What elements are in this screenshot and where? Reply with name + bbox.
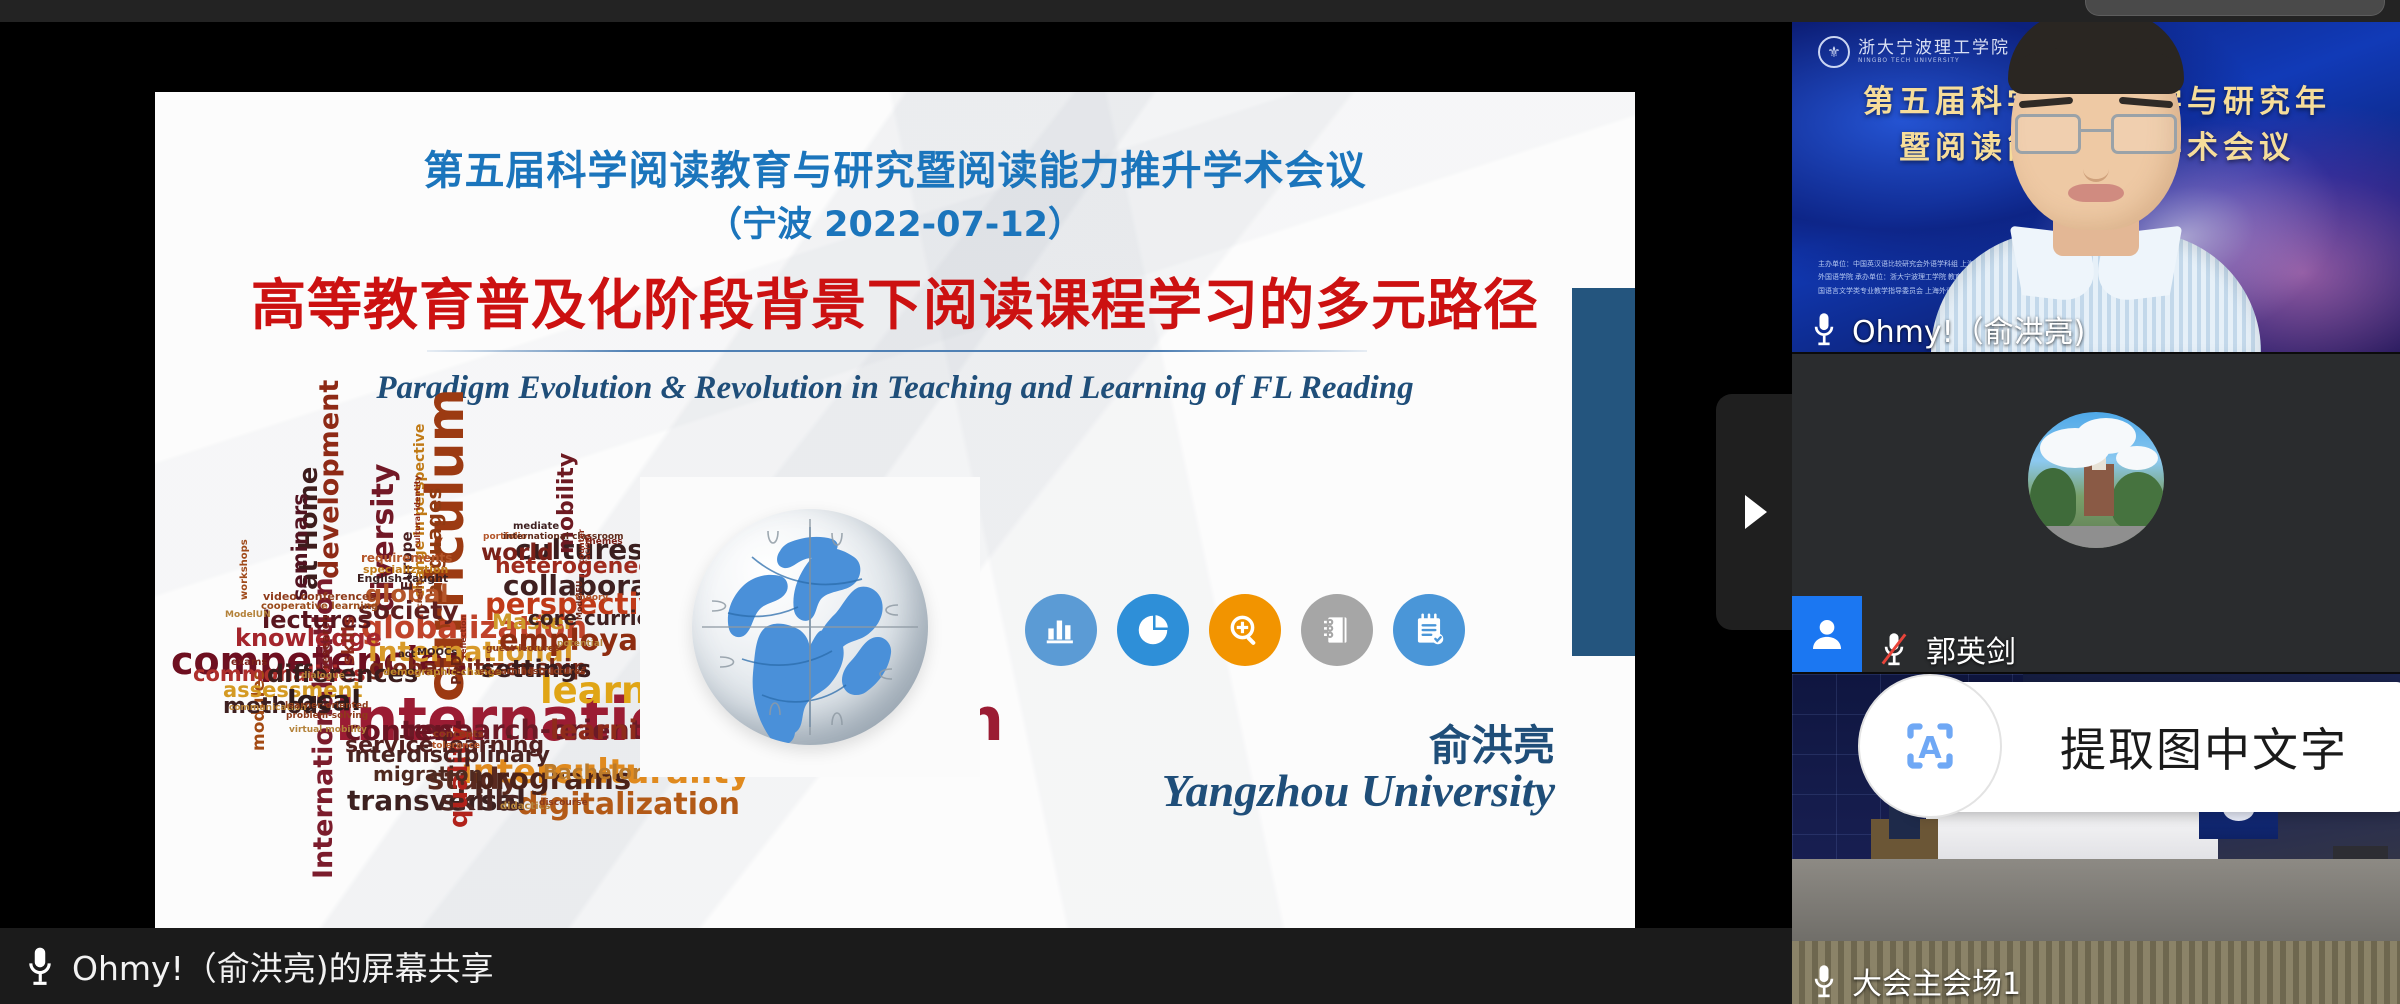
word-cloud-word: MOOCs [417, 648, 457, 658]
word-cloud-word: seminars [290, 493, 311, 601]
word-cloud-word: English-taught [357, 573, 448, 584]
slide-main-title: 高等教育普及化阶段背景下阅读课程学习的多元路径 [155, 260, 1635, 340]
text-extract-icon: A [1858, 674, 2002, 818]
microphone-muted-icon [1876, 631, 1912, 667]
bar-chart-icon [1025, 594, 1097, 666]
word-cloud: internationalizationcompetenciescurricul… [165, 472, 685, 912]
participant-name: 大会主会场1 [1852, 959, 2021, 1003]
glasses-icon [2015, 114, 2177, 156]
word-cloud-word: reflection [460, 615, 468, 658]
slide-icon-row [1025, 594, 1465, 684]
text-extract-label: 提取图中文字 [2060, 714, 2348, 780]
slide-presenter-university: Yangzhou University [795, 764, 1555, 817]
participant-tile-avatar[interactable]: 郭英剑 [1792, 354, 2400, 672]
rail-collapse-button[interactable] [1716, 394, 1792, 630]
word-cloud-word: potential [557, 640, 603, 649]
slide-accent-bar [1572, 288, 1635, 656]
word-cloud-word: tolerance [432, 742, 480, 751]
word-cloud-word: mediate [513, 522, 559, 532]
magnifier-plus-icon [1209, 594, 1281, 666]
participant-name: 郭英剑 [1926, 627, 2016, 671]
word-cloud-word: learner-oriented [285, 702, 368, 711]
slide-divider [427, 350, 1367, 352]
word-cloud-word: ModelEU [576, 581, 584, 620]
word-cloud-word: credits [416, 577, 424, 608]
avatar [2028, 412, 2164, 548]
top-chrome-bar [0, 0, 2400, 22]
participant-namebar: 大会主会场1 [1792, 958, 2021, 1004]
word-cloud-word: guest-lectures [486, 645, 559, 654]
text-extract-popup[interactable]: A 提取图中文字 [1910, 682, 2400, 812]
meeting-controls-pill[interactable] [2085, 0, 2385, 16]
slide-conference-title: 第五届科学阅读教育与研究暨阅读能力推升学术会议 [155, 138, 1635, 196]
word-cloud-word: virtual mobility [289, 726, 367, 735]
word-cloud-word: workshops [240, 539, 250, 600]
zoom-meeting-window: 第五届科学阅读教育与研究暨阅读能力推升学术会议 （宁波 2022-07-12） … [0, 0, 2400, 1004]
svg-text:A: A [1918, 731, 1942, 766]
microphone-icon [1810, 311, 1838, 347]
microphone-icon [1810, 963, 1838, 999]
sharing-status-label: Ohmy!（俞洪亮)的屏幕共享 [72, 942, 494, 990]
word-cloud-word: research [320, 615, 331, 669]
word-cloud-word: ModelUN [225, 611, 271, 620]
word-cloud-word: exams [231, 658, 267, 668]
participant-tile-speaker[interactable]: ⚜ 浙大宁波理工学院 NINGBO TECH UNIVERSITY 第五届科学阅… [1792, 22, 2400, 352]
sharing-status-bar: Ohmy!（俞洪亮)的屏幕共享 [0, 928, 1792, 1004]
word-cloud-word: Bachelor [543, 762, 642, 782]
participant-rail: ⚜ 浙大宁波理工学院 NINGBO TECH UNIVERSITY 第五届科学阅… [1792, 22, 2400, 1004]
puzzle-globe-icon [692, 509, 928, 745]
word-cloud-word: skills [341, 616, 358, 665]
university-seal-icon: ⚜ [1818, 36, 1850, 68]
word-cloud-word: world [481, 542, 554, 565]
word-cloud-word: migration [373, 764, 483, 784]
word-cloud-word: counter [578, 529, 586, 564]
participant-namebar: Ohmy!（俞洪亮) [1792, 306, 2085, 352]
word-cloud-word: cooperative learning [261, 602, 378, 612]
word-cloud-word: concepts [433, 730, 484, 740]
word-cloud-word: discourse [539, 799, 588, 808]
word-cloud-word: structures [533, 668, 585, 677]
participant-tile-hall[interactable]: A 提取图中文字 大会主会场1 [1792, 674, 2400, 1004]
word-cloud-word: problem-solving [286, 712, 368, 721]
pie-chart-icon [1117, 594, 1189, 666]
microphone-icon[interactable] [24, 945, 56, 987]
checklist-icon [1393, 594, 1465, 666]
participant-namebar: 郭英剑 [1792, 626, 2016, 672]
word-cloud-word: cultural identity [414, 475, 422, 548]
slide-subtitle: Paradigm Evolution & Revolution in Teach… [155, 370, 1635, 407]
notebook-icon [1301, 594, 1373, 666]
shared-screen-stage[interactable]: 第五届科学阅读教育与研究暨阅读能力推升学术会议 （宁波 2022-07-12） … [0, 22, 1792, 928]
slide-conference-date: （宁波 2022-07-12） [155, 196, 1635, 247]
triangle-right-icon [1737, 491, 1771, 533]
participant-name: Ohmy!（俞洪亮) [1852, 307, 2085, 351]
word-cloud-word: act [398, 650, 415, 660]
word-cloud-word: e-Learning [479, 668, 534, 677]
word-cloud-word: dialogue [301, 672, 345, 681]
presentation-slide: 第五届科学阅读教育与研究暨阅读能力推升学术会议 （宁波 2022-07-12） … [155, 92, 1635, 928]
